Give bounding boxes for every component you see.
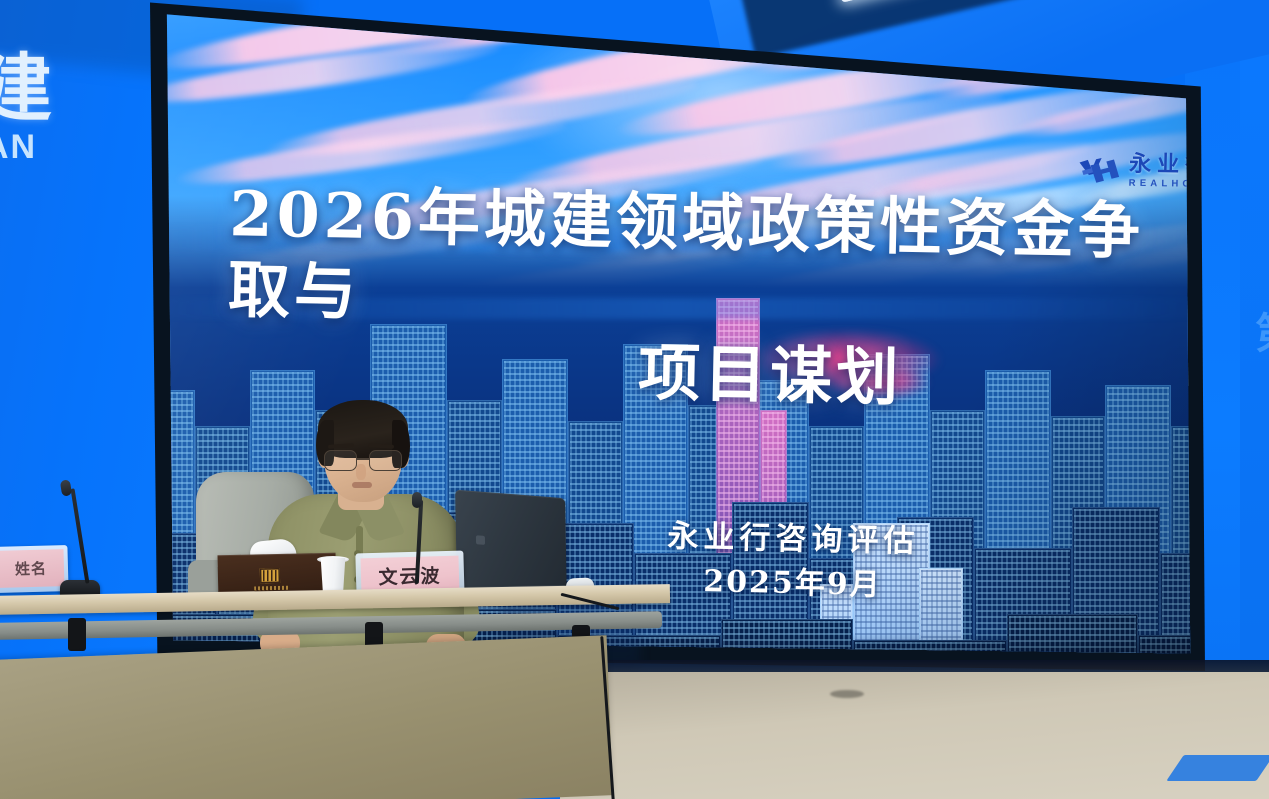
name-plate-far-left-label: 姓名 [15,558,48,580]
desk-front-panel [0,635,613,799]
right-wall-far [1240,0,1269,730]
tissue-box-logo-icon [260,568,280,583]
slide-date: 2025年9月 [666,559,919,608]
floor [560,672,1269,799]
floor-accent-patch [1166,755,1269,781]
name-plate-far-left: 姓名 [0,545,69,593]
wall-logo-subtext: AN [0,128,37,167]
slide-subtitle-block: 永业行咨询评估 2025年9月 [666,514,920,608]
floor-mark [830,690,864,698]
speaker-mouth [352,482,372,488]
slide-brand-logo: 永业行 REALHOM [1078,152,1205,189]
name-plate-label: 文云波 [378,561,442,590]
desk-cable-clip [68,618,86,651]
microphone-head [412,492,422,508]
tissue-box-logo-text [254,586,288,591]
yh-monogram-icon [1078,155,1123,186]
slide-subtitle: 永业行咨询评估 [667,518,920,559]
laptop-brand-icon [476,535,485,545]
wall-logo-glyph: 建 [0,52,50,126]
laptop-lid[interactable] [455,490,567,599]
speaker-nose [356,464,366,480]
right-wall-glyph: 第 [1255,300,1269,361]
conference-room-scene: 建 AN 第 [0,0,1269,799]
